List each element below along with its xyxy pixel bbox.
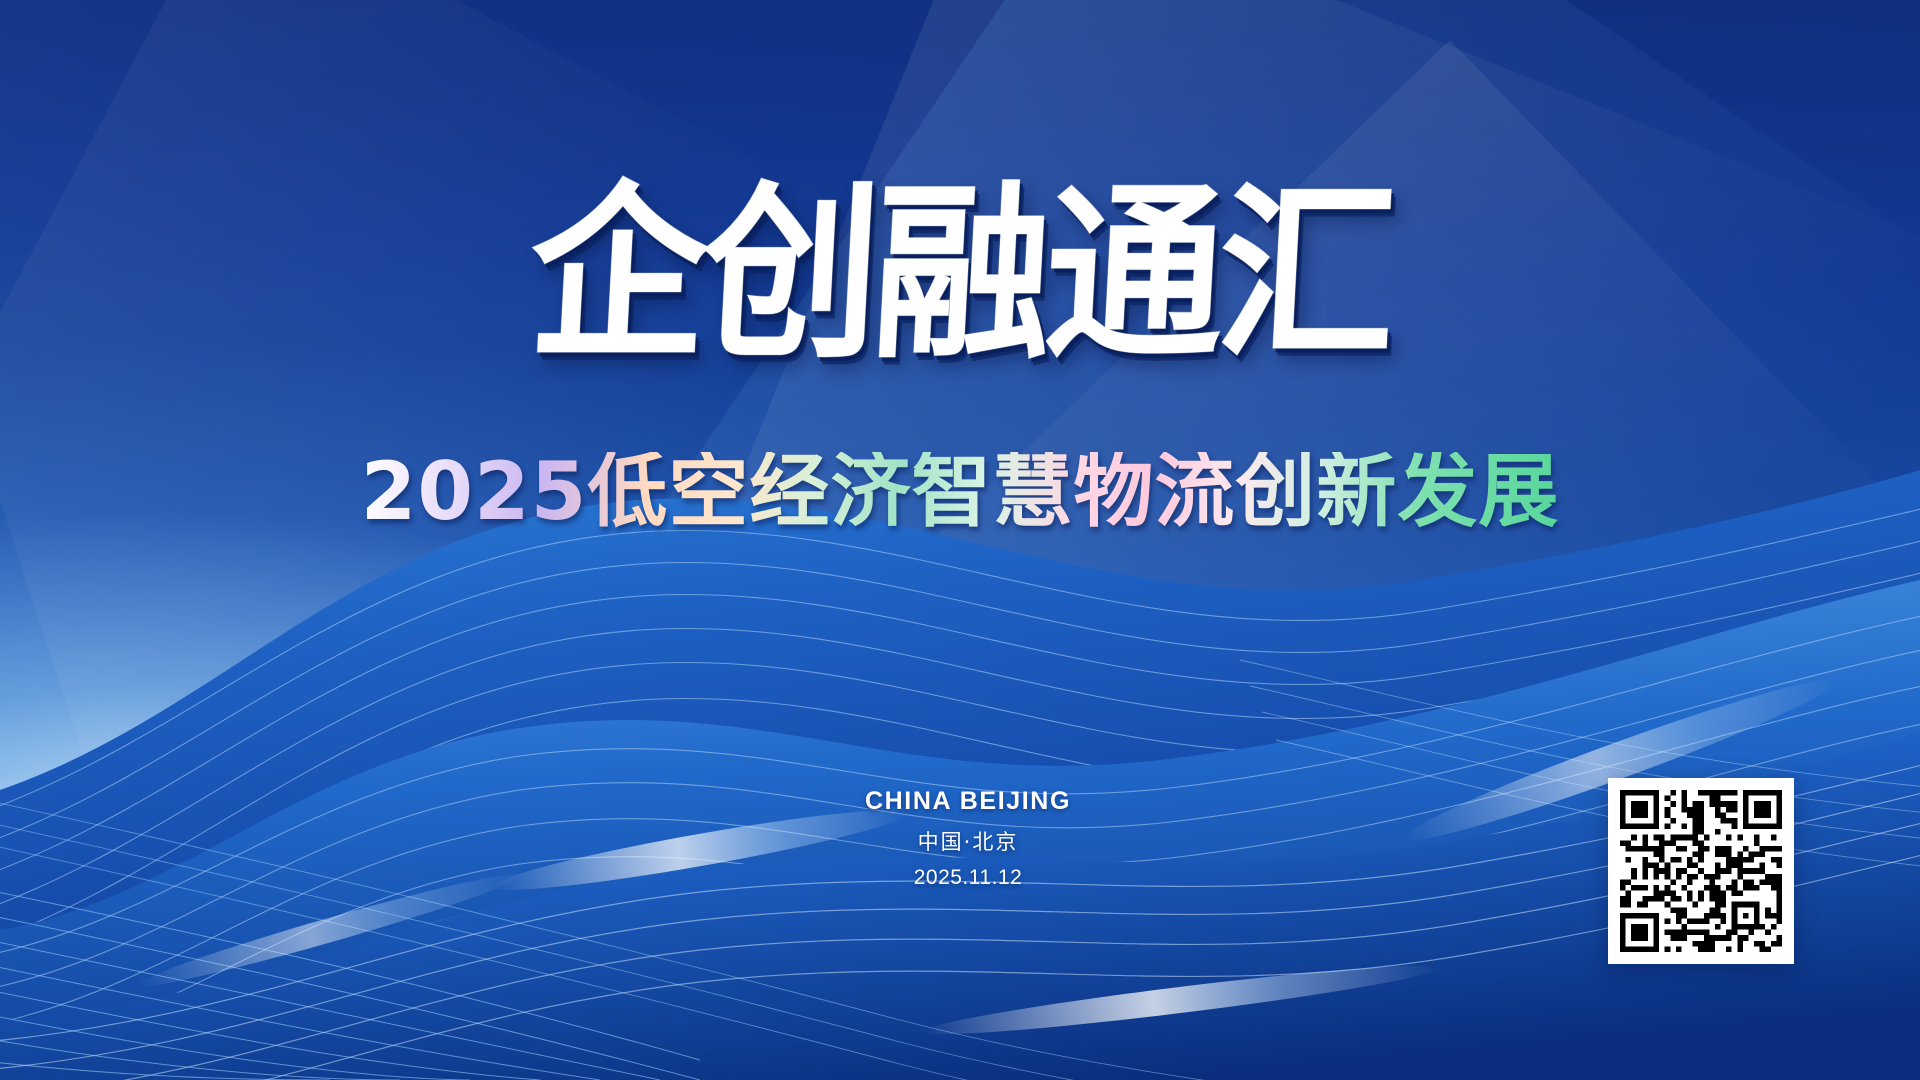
wave-landscape-graphic	[0, 460, 1920, 1080]
qr-code[interactable]	[1608, 778, 1794, 964]
qr-code-image	[1620, 790, 1782, 952]
event-location-block: CHINA BEIJING 中国·北京 2025.11.12	[848, 786, 1088, 890]
poster-subtitle-area: 2025低空经济智慧物流创新发展	[0, 452, 1920, 532]
poster-subtitle: 2025低空经济智慧物流创新发展	[361, 452, 1560, 532]
poster-canvas: 企创融通汇 2025低空经济智慧物流创新发展 CHINA BEIJING 中国·…	[0, 0, 1920, 1080]
location-chinese: 中国·北京	[848, 826, 1088, 856]
location-english: CHINA BEIJING	[848, 786, 1088, 817]
poster-title-area: 企创融通汇	[0, 186, 1920, 364]
poster-title: 企创融通汇	[525, 181, 1395, 370]
event-date: 2025.11.12	[848, 866, 1088, 890]
